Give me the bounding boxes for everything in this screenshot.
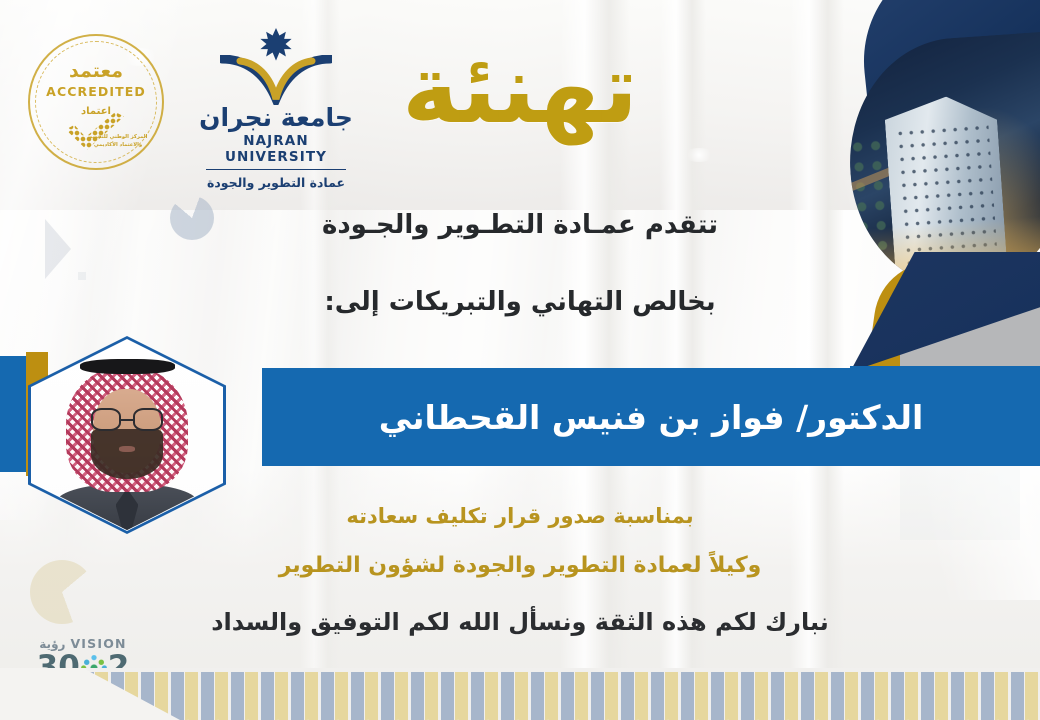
sadu-unit xyxy=(740,668,770,720)
sadu-unit xyxy=(950,668,980,720)
sadu-unit xyxy=(470,668,500,720)
sadu-unit xyxy=(200,668,230,720)
sadu-unit xyxy=(500,668,530,720)
body-line-2: وكيلاً لعمادة التطوير والجودة لشؤون التط… xyxy=(0,553,1040,578)
sadu-pattern-border xyxy=(0,668,1040,720)
honoree-photo xyxy=(32,340,222,530)
sadu-unit xyxy=(410,668,440,720)
logo-divider xyxy=(206,169,346,171)
portrait-mouth xyxy=(119,446,134,452)
sadu-unit xyxy=(170,668,200,720)
overlay-square-shape xyxy=(78,272,86,280)
sadu-unit xyxy=(320,668,350,720)
page-title-calligraphy: تهنئة xyxy=(0,34,1040,144)
sadu-unit xyxy=(920,668,950,720)
sadu-unit xyxy=(290,668,320,720)
sadu-unit xyxy=(710,668,740,720)
sadu-unit xyxy=(530,668,560,720)
sadu-unit xyxy=(230,668,260,720)
sadu-unit xyxy=(980,668,1010,720)
sadu-unit xyxy=(800,668,830,720)
photo-blue-bar xyxy=(0,356,26,472)
sadu-unit xyxy=(560,668,590,720)
portrait-agal xyxy=(80,359,175,374)
sadu-unit xyxy=(650,668,680,720)
honoree-name-banner: الدكتور/ فواز بن فنيس القحطاني xyxy=(262,368,1040,466)
sadu-unit xyxy=(890,668,920,720)
sadu-unit xyxy=(620,668,650,720)
body-line-1: بمناسبة صدور قرار تكليف سعادته xyxy=(0,504,1040,528)
sadu-unit xyxy=(860,668,890,720)
body-line-3: نبارك لكم هذه الثقة ونسأل الله لكم التوف… xyxy=(0,608,1040,636)
sadu-unit xyxy=(350,668,380,720)
honoree-name: الدكتور/ فواز بن فنيس القحطاني xyxy=(262,368,1040,466)
sadu-unit xyxy=(830,668,860,720)
background-light xyxy=(684,148,714,162)
portrait-glasses xyxy=(91,408,163,431)
congratulation-card: معتمد ACCREDITED اعتماد المركز الوطني لل… xyxy=(0,0,1040,720)
portrait-beard xyxy=(91,429,163,478)
sadu-unit xyxy=(770,668,800,720)
intro-line-2: بخالص التهاني والتبريكات إلى: xyxy=(0,287,1040,317)
intro-line-1: تتقدم عمـادة التطـوير والجـودة xyxy=(0,210,1040,240)
sadu-unit xyxy=(260,668,290,720)
sadu-unit xyxy=(590,668,620,720)
sadu-unit xyxy=(380,668,410,720)
sadu-unit xyxy=(680,668,710,720)
sadu-unit xyxy=(440,668,470,720)
sadu-unit xyxy=(1010,668,1040,720)
logo-deanship-name: عمادة التطوير والجودة xyxy=(196,175,356,190)
